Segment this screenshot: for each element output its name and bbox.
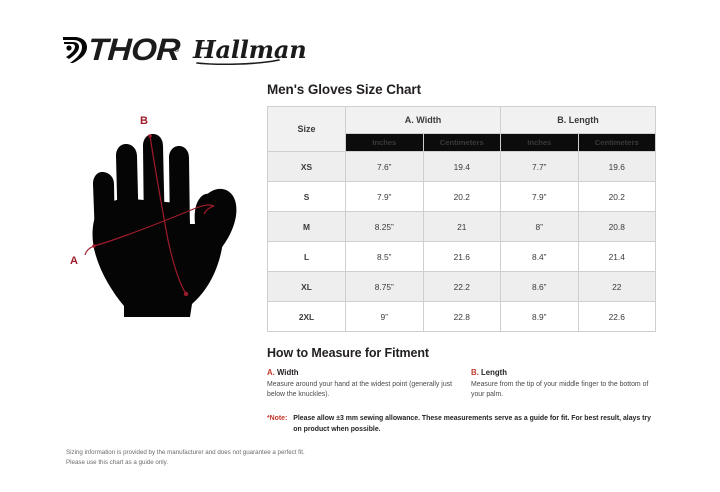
cell-width-in: 8.75” bbox=[346, 272, 424, 302]
cell-width-in: 9” bbox=[346, 302, 424, 332]
table-row: S 7.9” 20.2 7.9” 20.2 bbox=[268, 182, 656, 212]
measure-name: Length bbox=[481, 368, 507, 377]
disclaimer-line-2: Please use this chart as a guide only. bbox=[66, 458, 386, 468]
measure-description: Measure from the tip of your middle fing… bbox=[471, 380, 657, 401]
cell-size: M bbox=[268, 212, 346, 242]
header-length-centimeters: Centimeters bbox=[578, 134, 656, 152]
cell-width-cm: 20.2 bbox=[423, 182, 501, 212]
label-b: B bbox=[140, 115, 148, 127]
note-block: *Note: Please allow ±3 mm sewing allowan… bbox=[267, 414, 657, 435]
table-header-group-row: Size A. Width B. Length bbox=[268, 107, 656, 134]
cell-length-cm: 20.8 bbox=[578, 212, 656, 242]
cell-length-in: 8.9” bbox=[501, 302, 579, 332]
thor-logo: THOR ® bbox=[62, 35, 179, 65]
note-label: *Note: bbox=[267, 414, 287, 435]
cell-width-in: 8.25” bbox=[346, 212, 424, 242]
hand-measurement-diagram: B A bbox=[62, 98, 262, 328]
header-group-width: A. Width bbox=[346, 107, 501, 134]
cell-length-in: 7.7” bbox=[501, 152, 579, 182]
measure-name: Width bbox=[277, 368, 299, 377]
cell-size: S bbox=[268, 182, 346, 212]
header-length-inches: Inches bbox=[501, 134, 579, 152]
cell-length-in: 8.6” bbox=[501, 272, 579, 302]
measure-item-heading: B. Length bbox=[471, 368, 657, 377]
cell-size: XL bbox=[268, 272, 346, 302]
cell-length-in: 8” bbox=[501, 212, 579, 242]
cell-size: XS bbox=[268, 152, 346, 182]
measure-description: Measure around your hand at the widest p… bbox=[267, 380, 453, 401]
page-title: Men's Gloves Size Chart bbox=[267, 82, 657, 97]
header-size: Size bbox=[268, 107, 346, 152]
cell-length-in: 7.9” bbox=[501, 182, 579, 212]
table-row: M 8.25” 21 8” 20.8 bbox=[268, 212, 656, 242]
table-row: XS 7.6” 19.4 7.7” 19.6 bbox=[268, 152, 656, 182]
table-row: XL 8.75” 22.2 8.6” 22 bbox=[268, 272, 656, 302]
brand-logo-bar: THOR ® Hallman bbox=[62, 28, 292, 72]
cell-length-cm: 22.6 bbox=[578, 302, 656, 332]
table-row: 2XL 9” 22.8 8.9” 22.6 bbox=[268, 302, 656, 332]
hallman-swash-icon bbox=[195, 59, 281, 65]
size-chart-page: THOR ® Hallman bbox=[0, 0, 720, 492]
chart-column: Men's Gloves Size Chart Size A. Width B.… bbox=[267, 82, 657, 435]
note-text: Please allow ±3 mm sewing allowance. The… bbox=[293, 414, 653, 435]
measure-item-width: A. Width Measure around your hand at the… bbox=[267, 368, 453, 400]
measure-item-heading: A. Width bbox=[267, 368, 453, 377]
thor-wordmark: THOR bbox=[87, 35, 181, 65]
cell-size: 2XL bbox=[268, 302, 346, 332]
cell-length-cm: 19.6 bbox=[578, 152, 656, 182]
label-a: A bbox=[70, 255, 78, 267]
cell-width-in: 7.6” bbox=[346, 152, 424, 182]
how-to-measure-section: How to Measure for Fitment A. Width Meas… bbox=[267, 346, 657, 435]
measure-letter: A. bbox=[267, 368, 275, 377]
cell-width-cm: 21 bbox=[423, 212, 501, 242]
size-chart-table: Size A. Width B. Length Inches Centimete… bbox=[267, 106, 656, 332]
header-group-length: B. Length bbox=[501, 107, 656, 134]
hand-silhouette-shape bbox=[93, 134, 237, 317]
measure-letter: B. bbox=[471, 368, 479, 377]
cell-width-in: 8.5” bbox=[346, 242, 424, 272]
cell-width-cm: 19.4 bbox=[423, 152, 501, 182]
cell-length-cm: 21.4 bbox=[578, 242, 656, 272]
cell-length-cm: 22 bbox=[578, 272, 656, 302]
header-width-inches: Inches bbox=[346, 134, 424, 152]
cell-width-cm: 22.2 bbox=[423, 272, 501, 302]
measure-item-length: B. Length Measure from the tip of your m… bbox=[471, 368, 657, 400]
table-row: L 8.5” 21.6 8.4” 21.4 bbox=[268, 242, 656, 272]
cell-length-in: 8.4” bbox=[501, 242, 579, 272]
cell-width-in: 7.9” bbox=[346, 182, 424, 212]
disclaimer-line-1: Sizing information is provided by the ma… bbox=[66, 448, 386, 458]
cell-length-cm: 20.2 bbox=[578, 182, 656, 212]
disclaimer-footer: Sizing information is provided by the ma… bbox=[66, 448, 386, 468]
cell-size: L bbox=[268, 242, 346, 272]
cell-width-cm: 21.6 bbox=[423, 242, 501, 272]
how-to-measure-title: How to Measure for Fitment bbox=[267, 346, 657, 360]
cell-width-cm: 22.8 bbox=[423, 302, 501, 332]
header-width-centimeters: Centimeters bbox=[423, 134, 501, 152]
thor-hammer-icon bbox=[62, 35, 88, 65]
